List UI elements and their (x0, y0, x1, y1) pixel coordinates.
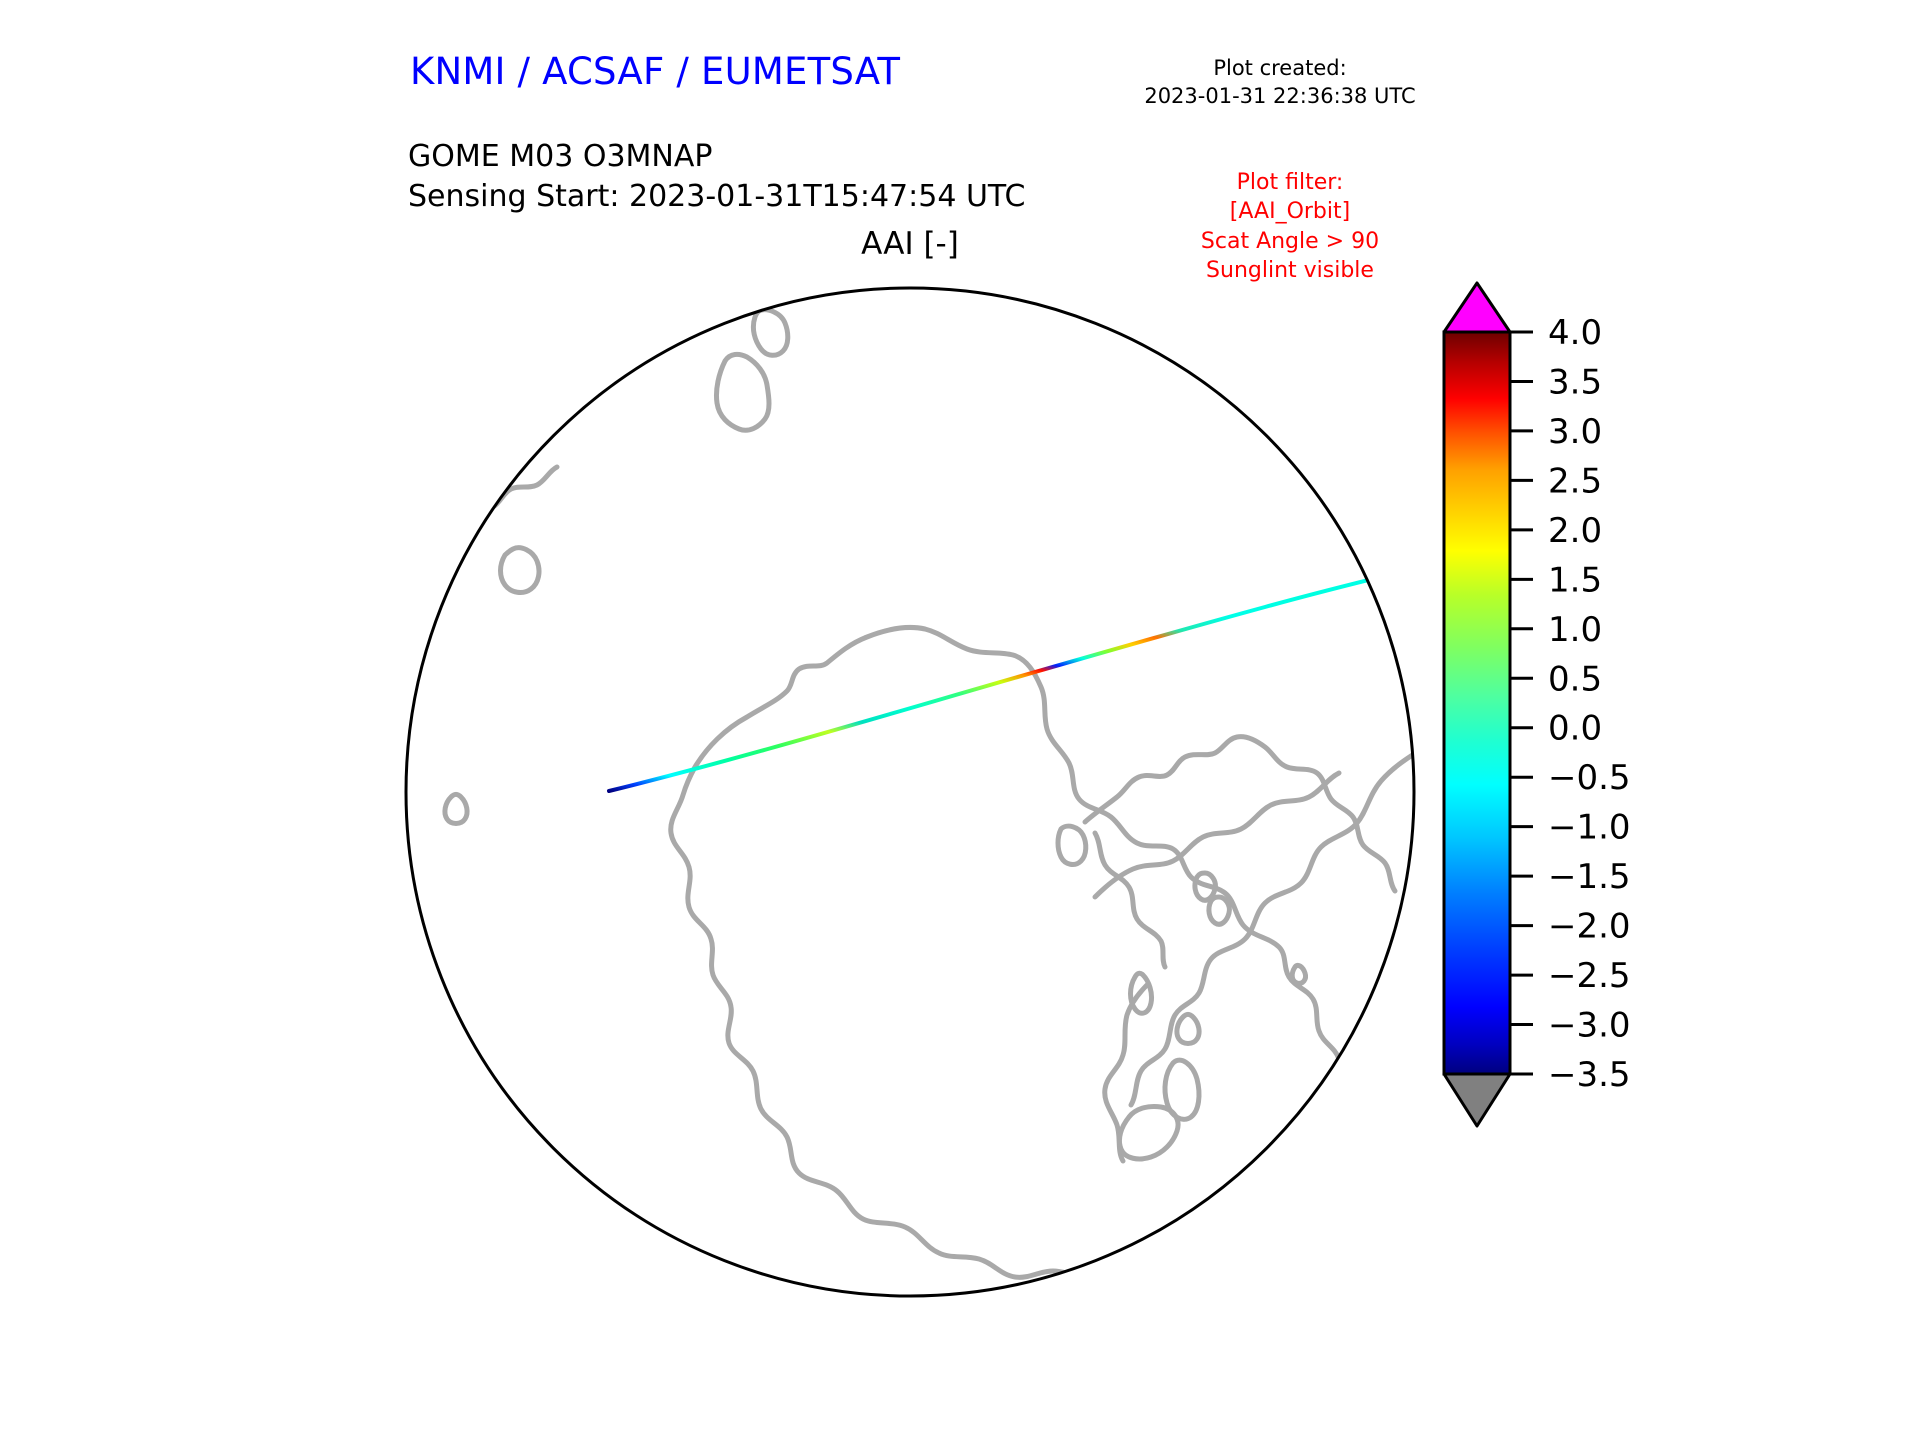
polar-map (395, 277, 1425, 1307)
colorbar-tick-label: 1.0 (1548, 610, 1602, 650)
plot-created-time: 2023-01-31 22:36:38 UTC (1130, 83, 1430, 111)
plot-created-block: Plot created: 2023-01-31 22:36:38 UTC (1130, 55, 1430, 110)
colorbar-panel: 4.03.53.02.52.01.51.00.50.0−0.5−1.0−1.5−… (1430, 280, 1850, 1300)
colorbar-tick-label: −3.5 (1548, 1055, 1631, 1095)
colorbar-tick-label: −0.5 (1548, 758, 1631, 798)
colorbar-tick-label: −2.5 (1548, 956, 1631, 996)
map-panel (395, 277, 1425, 1307)
product-name: GOME M03 O3MNAP (408, 137, 1025, 177)
colorbar-tick-label: −1.0 (1548, 808, 1631, 848)
sensing-start: Sensing Start: 2023-01-31T15:47:54 UTC (408, 177, 1025, 217)
colorbar-tick-label: −2.0 (1548, 907, 1631, 947)
plot-created-label: Plot created: (1130, 55, 1430, 83)
colorbar-tick-label: 3.0 (1548, 412, 1602, 452)
colorbar-ticks: 4.03.53.02.52.01.51.00.50.0−0.5−1.0−1.5−… (1510, 313, 1631, 1095)
colorbar-gradient-bar (1444, 332, 1510, 1074)
colorbar-over-range-arrow (1444, 283, 1510, 332)
colorbar-tick-label: −1.5 (1548, 857, 1631, 897)
plot-filter-block: Plot filter: [AAI_Orbit] Scat Angle > 90… (1140, 168, 1440, 285)
colorbar-tick-label: 2.5 (1548, 461, 1602, 501)
colorbar-under-range-arrow (1444, 1074, 1510, 1126)
colorbar-tick-label: 1.5 (1548, 560, 1602, 600)
colorbar-tick-label: 4.0 (1548, 313, 1602, 353)
product-block: GOME M03 O3MNAP Sensing Start: 2023-01-3… (408, 137, 1025, 217)
plot-filter-name: [AAI_Orbit] (1140, 197, 1440, 226)
plot-page: KNMI / ACSAF / EUMETSAT Plot created: 20… (0, 0, 1920, 1440)
plot-filter-scat-angle: Scat Angle > 90 (1140, 227, 1440, 256)
organisation-title: KNMI / ACSAF / EUMETSAT (410, 50, 900, 93)
colorbar-tick-label: −3.0 (1548, 1006, 1631, 1046)
colorbar-tick-label: 0.5 (1548, 659, 1602, 699)
colorbar-tick-label: 0.0 (1548, 709, 1602, 749)
colorbar-tick-label: 3.5 (1548, 362, 1602, 402)
globe-disc (406, 288, 1414, 1296)
colorbar-tick-label: 2.0 (1548, 511, 1602, 551)
plot-filter-label: Plot filter: (1140, 168, 1440, 197)
colorbar: 4.03.53.02.52.01.51.00.50.0−0.5−1.0−1.5−… (1430, 280, 1850, 1300)
